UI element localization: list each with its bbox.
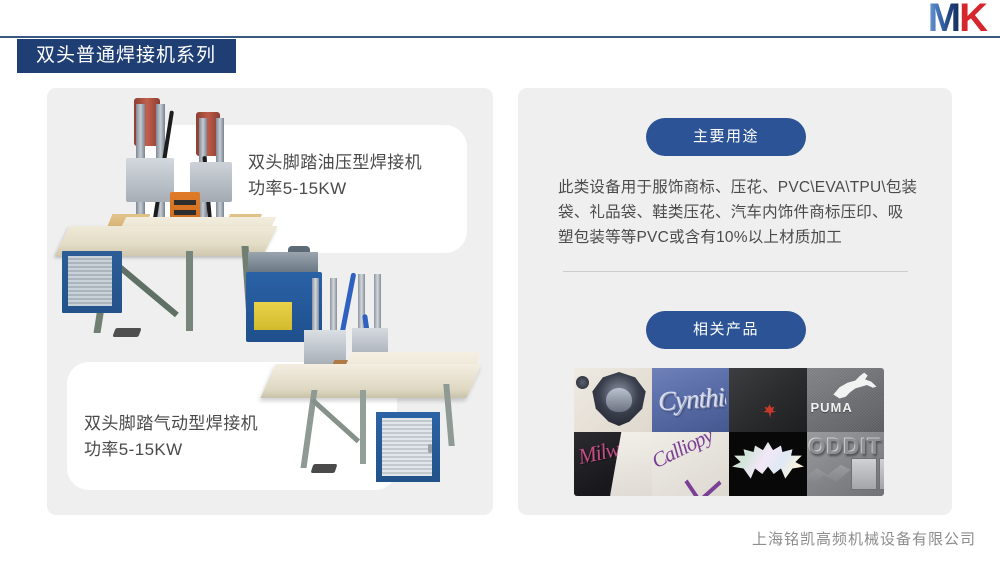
footer-company-name: 上海铭凯高频机械设备有限公司 (752, 528, 976, 549)
table-brace (112, 260, 179, 317)
product-name-hydraulic: 双头脚踏油压型焊接机 (248, 150, 422, 176)
puma-cat-icon (833, 371, 877, 399)
product-label-pneumatic: 双头脚踏气动型焊接机 功率5-15KW (84, 411, 258, 463)
cabinet-latch-icon (428, 444, 432, 453)
embossed-care-label-2 (879, 458, 885, 490)
collage-tile-embossed-wordmark: ODDIT (807, 432, 885, 496)
section-divider (563, 271, 908, 272)
collage-tile-bat-emblem (729, 432, 807, 496)
collage-tile-puma: PUMA (807, 368, 885, 432)
collage-tile-blue-script: Cynthia (652, 368, 730, 432)
table-leg-2 (186, 251, 193, 331)
cabinet-vent-door (68, 256, 112, 306)
pneumatic-table-brace (311, 398, 360, 443)
product-power-pneumatic: 功率5-15KW (84, 437, 258, 463)
related-products-collage: Cynthia PUMA Milway Calliopy ODDIT (574, 368, 884, 496)
pneumatic-welding-head-left (304, 330, 346, 364)
usage-description-text: 此类设备用于服饰商标、压花、PVC\EVA\TPU\包装袋、礼品袋、鞋类压花、汽… (558, 175, 918, 250)
slide-root: MK 双头普通焊接机系列 (0, 0, 1000, 562)
script-logo-cynthia: Cynthia (656, 374, 727, 429)
collage-tile-purple-script: Calliopy (652, 432, 730, 496)
pneumatic-table-leg-2 (360, 390, 366, 464)
script-logo-milway: Milway (576, 432, 640, 470)
embossed-wordmark: ODDIT (809, 434, 885, 460)
product-power-hydraulic: 功率5-15KW (248, 176, 422, 202)
welding-head-left (126, 158, 174, 202)
product-name-pneumatic: 双头脚踏气动型焊接机 (84, 411, 258, 437)
usage-heading-pill[interactable]: 主要用途 (646, 118, 806, 156)
logo-letter-m: M (928, 0, 959, 40)
pneumatic-cabinet-vent-door (382, 418, 432, 476)
collage-tile-magenta-script: Milway (574, 432, 652, 496)
header-divider-line (0, 36, 1000, 38)
related-products-heading-pill[interactable]: 相关产品 (646, 311, 806, 349)
pneumatic-foot-pedal-icon (311, 464, 338, 473)
pneumatic-welder-photo (268, 272, 484, 506)
embossed-care-label-1 (851, 458, 877, 490)
brand-logo: MK (900, 0, 986, 40)
logo-letter-k: K (959, 0, 986, 40)
puma-wordmark: PUMA (811, 400, 885, 415)
tiger-emblem-icon (590, 372, 648, 426)
embossed-swoosh-icon (807, 462, 851, 490)
right-info-panel: 主要用途 此类设备用于服饰商标、压花、PVC\EVA\TPU\包装袋、礼品袋、鞋… (518, 88, 952, 515)
page-title: 双头普通焊接机系列 (17, 39, 236, 73)
collage-tile-red-leaf (729, 368, 807, 432)
foot-pedal-icon (112, 328, 141, 337)
bat-emblem-icon (732, 440, 804, 486)
product-label-hydraulic: 双头脚踏油压型焊接机 功率5-15KW (248, 150, 422, 202)
purple-check-icon (684, 462, 721, 496)
collage-tile-tiger-emblem (574, 368, 652, 432)
small-badge-icon (576, 376, 589, 389)
red-leaf-icon (763, 404, 776, 418)
